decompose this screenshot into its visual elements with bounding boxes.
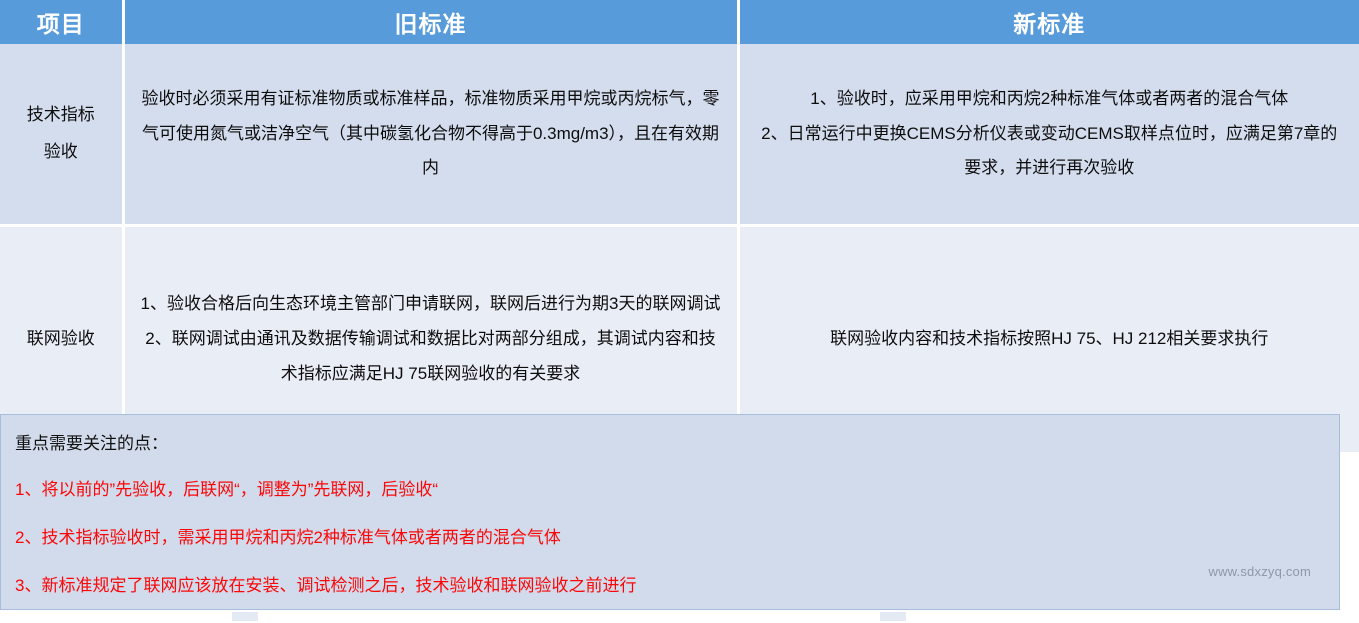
key-points-box: 重点需要关注的点： 1、将以前的”先验收，后联网“，调整为”先联网，后验收“ 2… bbox=[0, 414, 1340, 610]
column-header-new-standard: 新标准 bbox=[738, 0, 1359, 44]
row-label-technical-acceptance: 技术指标 验收 bbox=[0, 44, 123, 226]
cell-paragraph: 联网验收内容和技术指标按照HJ 75、HJ 212相关要求执行 bbox=[754, 322, 1346, 357]
cell-old-standard-technical: 验收时必须采用有证标准物质或标准样品，标准物质采用甲烷或丙烷标气，零气可使用氮气… bbox=[123, 44, 738, 226]
table-row: 技术指标 验收 验收时必须采用有证标准物质或标准样品，标准物质采用甲烷或丙烷标气… bbox=[0, 44, 1359, 226]
table-header-row: 项目 旧标准 新标准 bbox=[0, 0, 1359, 44]
row-label-line: 验收 bbox=[14, 135, 108, 170]
key-point-item: 2、技术指标验收时，需采用甲烷和丙烷2种标准气体或者两者的混合气体 bbox=[15, 527, 1325, 549]
footer-artifact bbox=[232, 612, 258, 621]
key-points-title: 重点需要关注的点： bbox=[15, 433, 1325, 455]
key-point-item: 3、新标准规定了联网应该放在安装、调试检测之后，技术验收和联网验收之前进行 bbox=[15, 575, 1325, 597]
row-label-line: 联网验收 bbox=[14, 322, 108, 357]
slide-page: 项目 旧标准 新标准 技术指标 验收 验收时必须采用有证标准物质或标准样品，标准… bbox=[0, 0, 1359, 623]
table-header: 项目 旧标准 新标准 bbox=[0, 0, 1359, 44]
cell-new-standard-technical: 1、验收时，应采用甲烷和丙烷2种标准气体或者两者的混合气体 2、日常运行中更换C… bbox=[738, 44, 1359, 226]
cell-paragraph: 1、验收合格后向生态环境主管部门申请联网，联网后进行为期3天的联网调试 bbox=[139, 287, 723, 322]
footer-strip bbox=[0, 610, 1359, 623]
row-label-line: 技术指标 bbox=[14, 98, 108, 133]
table-body: 技术指标 验收 验收时必须采用有证标准物质或标准样品，标准物质采用甲烷或丙烷标气… bbox=[0, 44, 1359, 454]
key-point-item: 1、将以前的”先验收，后联网“，调整为”先联网，后验收“ bbox=[15, 479, 1325, 501]
footer-artifact bbox=[880, 612, 906, 621]
cell-paragraph: 验收时必须采用有证标准物质或标准样品，标准物质采用甲烷或丙烷标气，零气可使用氮气… bbox=[139, 82, 723, 187]
standards-comparison-table: 项目 旧标准 新标准 技术指标 验收 验收时必须采用有证标准物质或标准样品，标准… bbox=[0, 0, 1359, 455]
cell-paragraph: 1、验收时，应采用甲烷和丙烷2种标准气体或者两者的混合气体 bbox=[754, 82, 1346, 117]
cell-paragraph: 2、联网调试由通讯及数据传输调试和数据比对两部分组成，其调试内容和技术指标应满足… bbox=[139, 322, 723, 392]
cell-paragraph: 2、日常运行中更换CEMS分析仪表或变动CEMS取样点位时，应满足第7章的要求，… bbox=[754, 117, 1346, 187]
column-header-old-standard: 旧标准 bbox=[123, 0, 738, 44]
site-watermark: www.sdxzyq.com bbox=[1209, 564, 1312, 579]
column-header-item: 项目 bbox=[0, 0, 123, 44]
